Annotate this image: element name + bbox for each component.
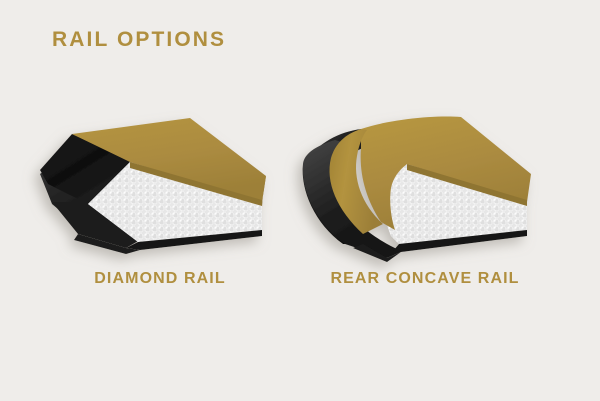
rear-concave-rail-body: [303, 117, 531, 263]
rear-concave-rail-figure: [295, 112, 555, 262]
rail-option-diamond[interactable]: DIAMOND RAIL: [30, 112, 290, 312]
rail-options-row: DIAMOND RAIL: [0, 112, 600, 312]
page-title: RAIL OPTIONS: [52, 28, 226, 52]
diamond-rail-figure: [30, 112, 290, 262]
diamond-rail-label: DIAMOND RAIL: [30, 270, 290, 288]
rail-option-rear-concave[interactable]: REAR CONCAVE RAIL: [295, 112, 555, 312]
rear-concave-rail-label: REAR CONCAVE RAIL: [295, 270, 555, 288]
rail-options-page: RAIL OPTIONS: [0, 0, 600, 401]
diamond-rail-body: [40, 118, 266, 254]
